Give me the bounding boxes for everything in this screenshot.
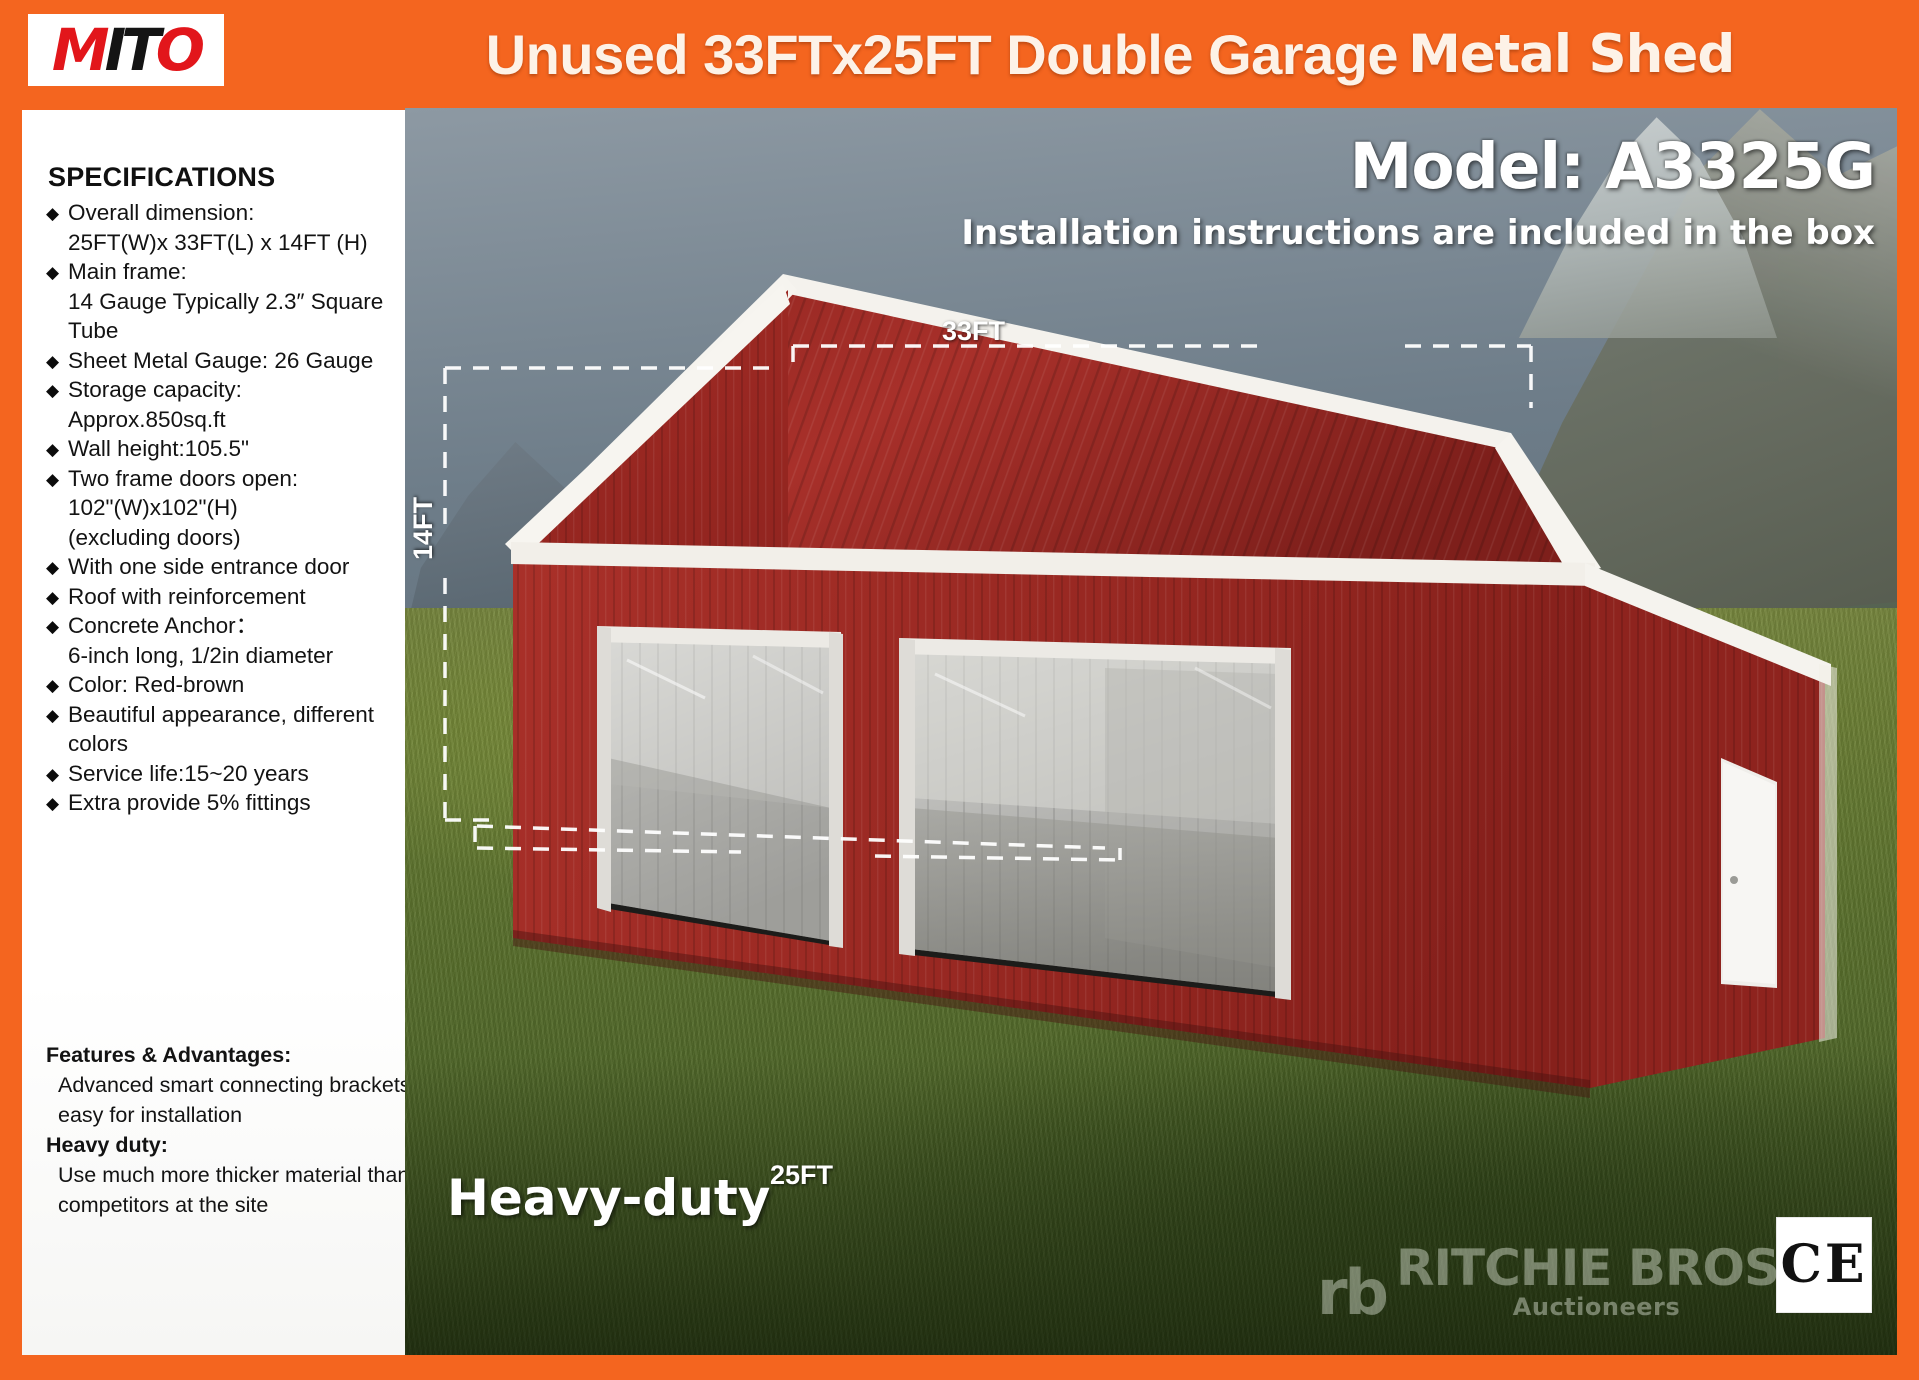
diamond-bullet-icon: ◆ [46,435,59,464]
spec-item-text: Color: Red-brown [68,672,244,697]
specifications-list: ◆Overall dimension: 25FT(W)x 33FT(L) x 1… [44,198,414,818]
diamond-bullet-icon: ◆ [46,465,59,494]
spec-item: ◆Extra provide 5% fittings [44,788,414,818]
features-advantages-block: Features & Advantages: Advanced smart co… [46,1040,414,1220]
spec-item: ◆Two frame doors open: 102"(W)x102"(H) (… [44,464,414,553]
diamond-bullet-icon: ◆ [46,553,59,582]
diamond-bullet-icon: ◆ [46,376,59,405]
watermark-words: RITCHIE BROS. Auctioneers [1396,1243,1797,1319]
metal-shed-illustration [405,108,1897,1355]
diamond-bullet-icon: ◆ [46,671,59,700]
watermark-main-text: RITCHIE BROS. [1396,1243,1797,1293]
dimension-label-length: 33FT [942,316,1005,347]
spec-item-text: Overall dimension: 25FT(W)x 33FT(L) x 14… [68,200,368,255]
spec-item-text: Service life:15~20 years [68,761,309,786]
spec-item-text: Concrete Anchor： 6-inch long, 1/2in diam… [68,613,333,668]
ritchie-bros-watermark: rb RITCHIE BROS. Auctioneers [1317,1243,1797,1319]
diamond-bullet-icon: ◆ [46,258,59,287]
diamond-bullet-icon: ◆ [46,760,59,789]
spec-item-text: Wall height:105.5" [68,436,249,461]
ce-mark-text: CE [1780,1239,1867,1291]
page-title-part2: Metal Shed [1408,24,1734,85]
spec-item: ◆With one side entrance door [44,552,414,582]
heavy-duty-heading: Heavy duty: [46,1130,414,1160]
heavy-duty-badge: Heavy-duty [447,1169,770,1227]
logo-letter-m: M [52,16,105,84]
spec-item-text: Sheet Metal Gauge: 26 Gauge [68,348,373,373]
page-title: Unused 33FTx25FT Double GarageMetal Shed [330,16,1890,92]
diamond-bullet-icon: ◆ [46,583,59,612]
page-title-part1: Unused 33FTx25FT Double Garage [486,22,1398,87]
heavy-duty-body: Use much more thicker material than comp… [46,1160,414,1220]
brand-logo: MITO [28,14,224,86]
ce-mark-badge: CE [1776,1217,1872,1313]
spec-item: ◆Wall height:105.5" [44,434,414,464]
product-photo-scene: Model: A3325G Installation instructions … [405,108,1897,1355]
spec-item: ◆Storage capacity: Approx.850sq.ft [44,375,414,434]
watermark-sub-text: Auctioneers [1513,1295,1680,1319]
spec-item: ◆Concrete Anchor： 6-inch long, 1/2in dia… [44,611,414,670]
spec-item-text: Two frame doors open: 102"(W)x102"(H) (e… [68,466,298,550]
logo-letters-it: IT [105,16,156,84]
logo-letter-o: O [156,16,200,84]
spec-item-text: Extra provide 5% fittings [68,790,311,815]
spec-item-text: Storage capacity: Approx.850sq.ft [68,377,242,432]
spec-item: ◆Roof with reinforcement [44,582,414,612]
spec-item: ◆Service life:15~20 years [44,759,414,789]
diamond-bullet-icon: ◆ [46,199,59,228]
install-note: Installation instructions are included i… [961,213,1875,253]
spec-item-text: Beautiful appearance, different colors [68,702,374,757]
model-label: Model: A3325G [1350,130,1875,203]
spec-item: ◆Beautiful appearance, different colors [44,700,414,759]
diamond-bullet-icon: ◆ [46,347,59,376]
specifications-panel: SPECIFICATIONS ◆Overall dimension: 25FT(… [22,110,405,1355]
spec-item: ◆Main frame: 14 Gauge Typically 2.3″ Squ… [44,257,414,346]
spec-item-text: Roof with reinforcement [68,584,306,609]
diamond-bullet-icon: ◆ [46,612,59,641]
spec-item-text: With one side entrance door [68,554,349,579]
dimension-label-height: 14FT [408,497,439,560]
dimension-label-width: 25FT [770,1160,833,1191]
spec-item: ◆Overall dimension: 25FT(W)x 33FT(L) x 1… [44,198,414,257]
brand-logo-text: MITO [52,21,200,79]
product-infographic: MITO Unused 33FTx25FT Double GarageMetal… [0,0,1919,1380]
header-bar: MITO Unused 33FTx25FT Double GarageMetal… [0,0,1919,108]
spec-item-text: Main frame: 14 Gauge Typically 2.3″ Squa… [68,259,383,343]
features-heading: Features & Advantages: [46,1040,414,1070]
diamond-bullet-icon: ◆ [46,789,59,818]
rb-logo-icon: rb [1317,1266,1386,1319]
specifications-heading: SPECIFICATIONS [48,162,275,193]
spec-item: ◆Color: Red-brown [44,670,414,700]
spec-item: ◆Sheet Metal Gauge: 26 Gauge [44,346,414,376]
diamond-bullet-icon: ◆ [46,701,59,730]
features-body: Advanced smart connecting brackets easy … [46,1070,414,1130]
